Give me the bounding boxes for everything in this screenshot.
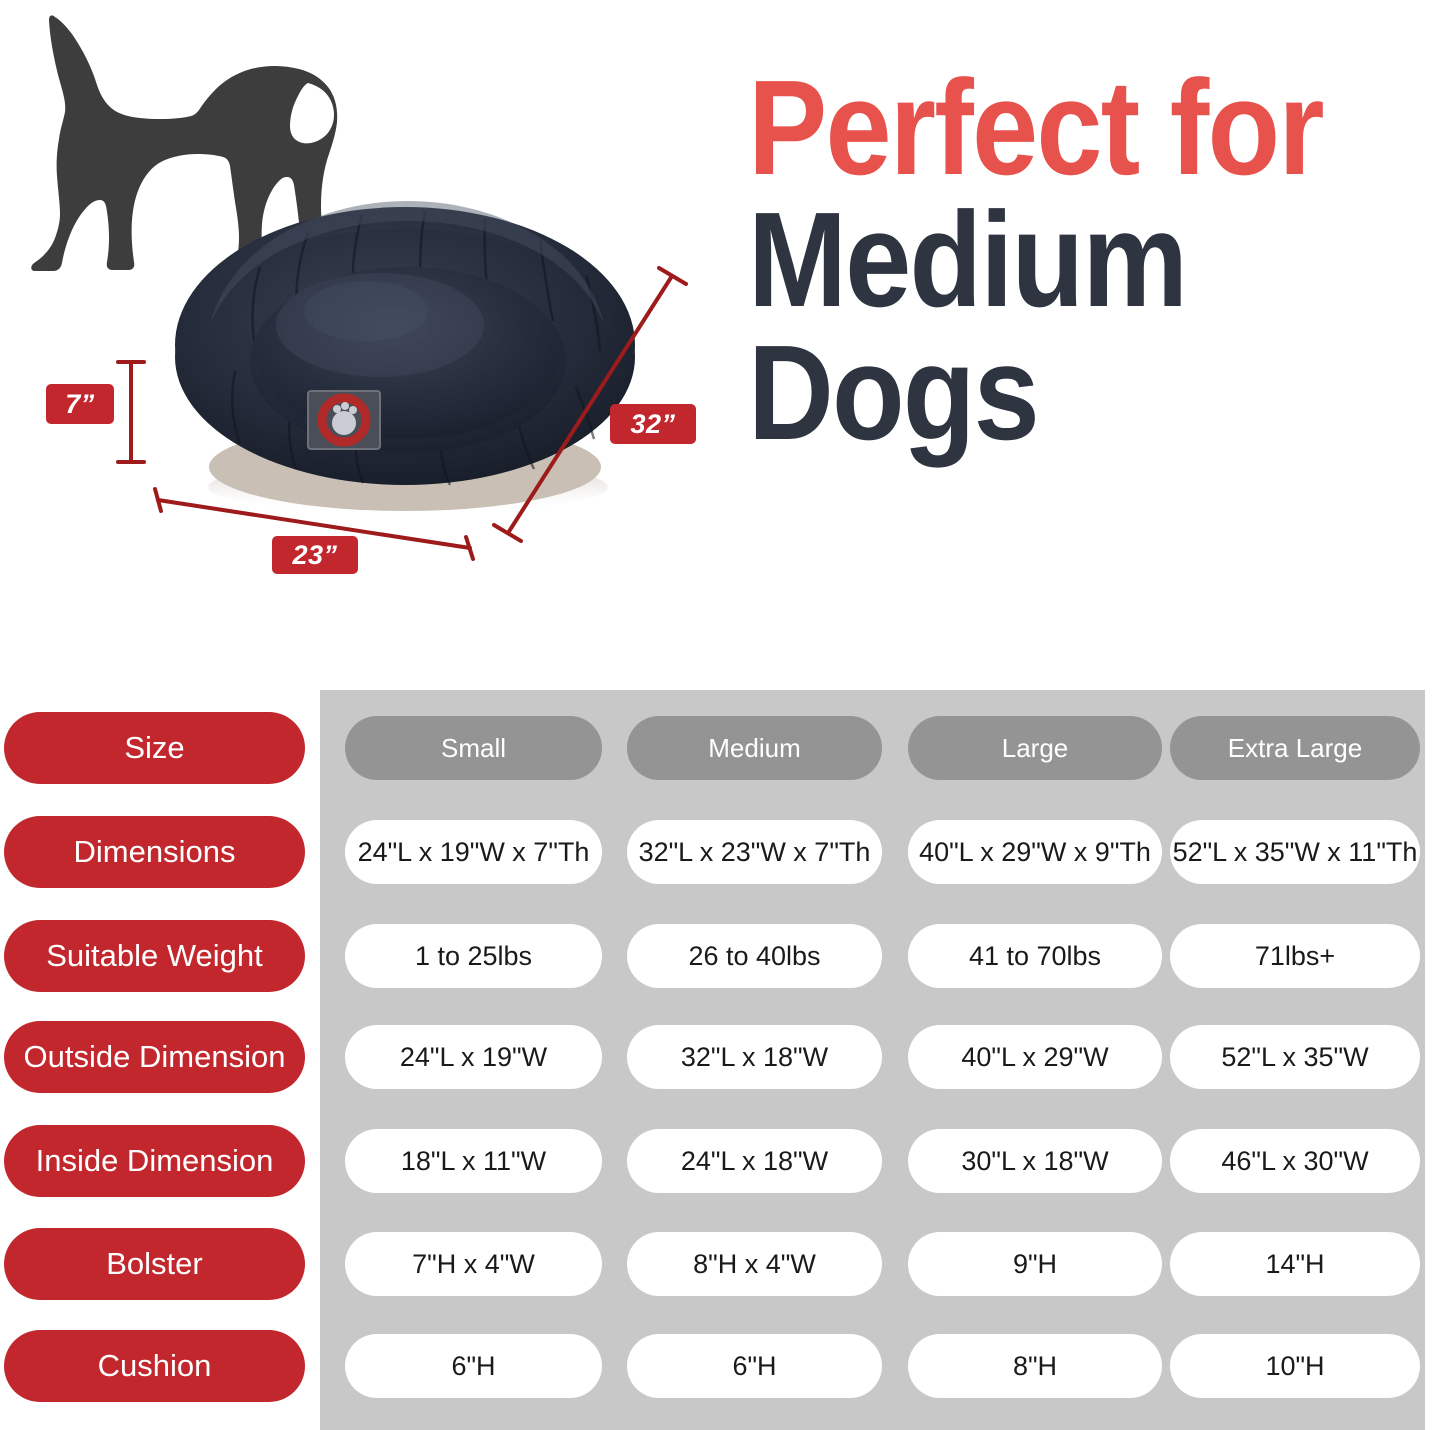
- row-label-column: SizeDimensionsSuitable WeightOutside Dim…: [0, 690, 320, 1430]
- table-cell: 24"L x 19"W: [345, 1025, 602, 1089]
- dimension-label-height: 7”: [46, 384, 114, 424]
- headline-line-3: Dogs: [748, 327, 1355, 459]
- column-header-medium: Medium: [627, 716, 882, 780]
- table-cell: 7"H x 4"W: [345, 1232, 602, 1296]
- row-label-bolster: Bolster: [4, 1228, 305, 1300]
- column-header-small: Small: [345, 716, 602, 780]
- hero-section: 7” 23” 32” Perfect for Medium Dogs: [0, 0, 1445, 690]
- row-label-dimensions: Dimensions: [4, 816, 305, 888]
- table-cell: 52"L x 35"W x 11"Th: [1170, 820, 1420, 884]
- row-label-cushion: Cushion: [4, 1330, 305, 1402]
- specification-table: SizeDimensionsSuitable WeightOutside Dim…: [0, 690, 1445, 1430]
- table-cell: 14"H: [1170, 1232, 1420, 1296]
- headline-line-2: Medium: [748, 194, 1355, 326]
- table-cell: 46"L x 30"W: [1170, 1129, 1420, 1193]
- table-cell: 24"L x 19"W x 7"Th: [345, 820, 602, 884]
- table-cell: 18"L x 11"W: [345, 1129, 602, 1193]
- headline: Perfect for Medium Dogs: [748, 62, 1438, 459]
- table-cell: 24"L x 18"W: [627, 1129, 882, 1193]
- table-cell: 40"L x 29"W x 9"Th: [908, 820, 1162, 884]
- table-cell: 26 to 40lbs: [627, 924, 882, 988]
- table-cell: 8"H: [908, 1334, 1162, 1398]
- table-cell: 10"H: [1170, 1334, 1420, 1398]
- product-photo-dog-bed: [140, 175, 670, 525]
- table-cell: 41 to 70lbs: [908, 924, 1162, 988]
- row-label-size: Size: [4, 712, 305, 784]
- table-cell: 6"H: [627, 1334, 882, 1398]
- table-cell: 71lbs+: [1170, 924, 1420, 988]
- table-cell: 8"H x 4"W: [627, 1232, 882, 1296]
- dimension-label-length: 32”: [610, 404, 696, 444]
- dimension-label-width: 23”: [272, 536, 358, 574]
- headline-line-1: Perfect for: [748, 62, 1355, 194]
- table-cell: 52"L x 35"W: [1170, 1025, 1420, 1089]
- column-header-large: Large: [908, 716, 1162, 780]
- row-label-outside-dimension: Outside Dimension: [4, 1021, 305, 1093]
- brand-tag-icon: [308, 391, 380, 449]
- table-cell: 9"H: [908, 1232, 1162, 1296]
- table-cell: 32"L x 23"W x 7"Th: [627, 820, 882, 884]
- table-cell: 32"L x 18"W: [627, 1025, 882, 1089]
- table-cell: 40"L x 29"W: [908, 1025, 1162, 1089]
- column-header-extra-large: Extra Large: [1170, 716, 1420, 780]
- row-label-inside-dimension: Inside Dimension: [4, 1125, 305, 1197]
- table-cell: 30"L x 18"W: [908, 1129, 1162, 1193]
- table-cell: 1 to 25lbs: [345, 924, 602, 988]
- table-cell: 6"H: [345, 1334, 602, 1398]
- row-label-suitable-weight: Suitable Weight: [4, 920, 305, 992]
